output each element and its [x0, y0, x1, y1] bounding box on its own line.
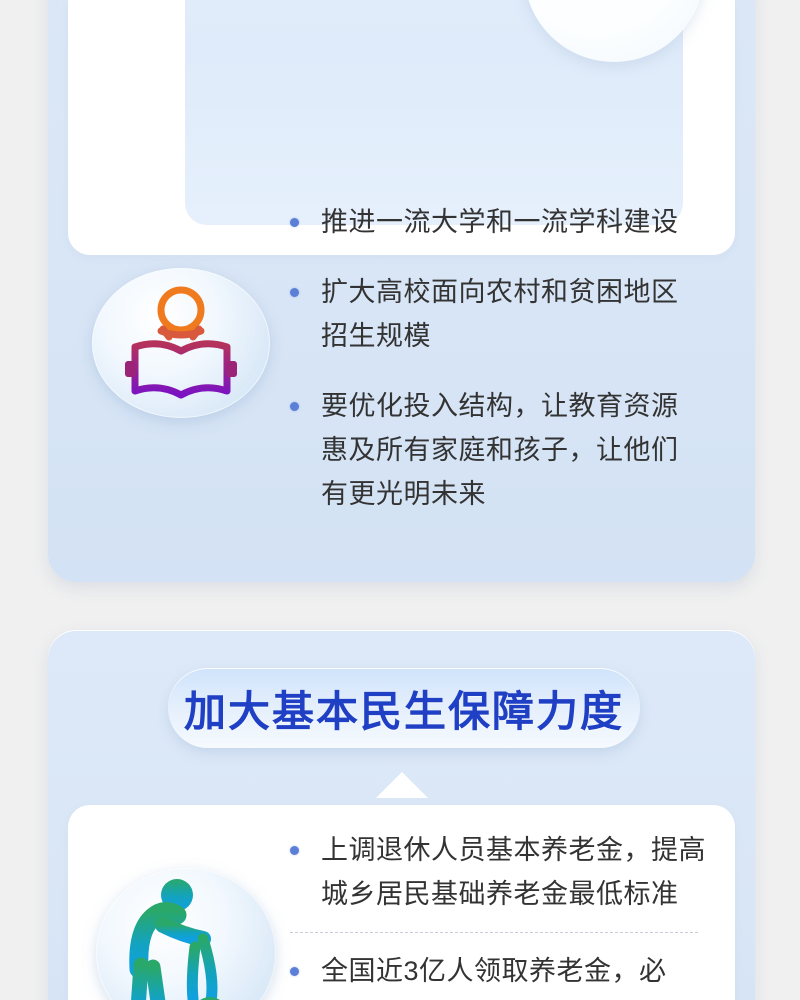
page-title: 加大基本民生保障力度: [184, 678, 624, 739]
bullet-dot-icon: [290, 402, 299, 411]
bullet-dot-icon: [290, 846, 299, 855]
education-bullet-list: 推进一流大学和一流学科建设 扩大高校面向农村和贫困地区 招生规模 要优化投入结构…: [290, 200, 700, 516]
person-reading-book-glyph: [115, 279, 247, 407]
list-item-label: 全国近3亿人领取养老金，必: [321, 949, 710, 993]
list-item: 扩大高校面向农村和贫困地区 招生规模: [290, 270, 700, 358]
list-item-label: 要优化投入结构，让教育资源 惠及所有家庭和孩子，让他们 有更光明未来: [321, 384, 700, 516]
list-item: 要优化投入结构，让教育资源 惠及所有家庭和孩子，让他们 有更光明未来: [290, 384, 700, 516]
bullet-dot-icon: [290, 288, 299, 297]
infographic-page: 教育，支持和规范民办教育， 帮助民办幼儿园纾困 推进一流大学和一流学科建设 扩大…: [0, 0, 800, 1000]
person-reading-book-icon: [92, 268, 270, 418]
title-notch: [376, 772, 428, 798]
list-item: 推进一流大学和一流学科建设: [290, 200, 700, 244]
livelihood-bullet-list: 上调退休人员基本养老金，提高 城乡居民基础养老金最低标准 全国近3亿人领取养老金…: [290, 828, 710, 993]
livelihood-section-title: 加大基本民生保障力度: [168, 668, 640, 748]
elderly-person-walker-glyph: [111, 873, 261, 1000]
bullet-dot-icon: [290, 218, 299, 227]
list-divider: [290, 932, 698, 933]
elderly-person-walker-icon: [96, 868, 276, 1000]
list-item-label: 扩大高校面向农村和贫困地区 招生规模: [321, 270, 700, 358]
list-item: 全国近3亿人领取养老金，必: [290, 949, 710, 993]
bullet-dot-icon: [290, 967, 299, 976]
list-item-label: 上调退休人员基本养老金，提高 城乡居民基础养老金最低标准: [321, 828, 710, 916]
list-item: 上调退休人员基本养老金，提高 城乡居民基础养老金最低标准: [290, 828, 710, 916]
list-item-label: 推进一流大学和一流学科建设: [321, 200, 700, 244]
